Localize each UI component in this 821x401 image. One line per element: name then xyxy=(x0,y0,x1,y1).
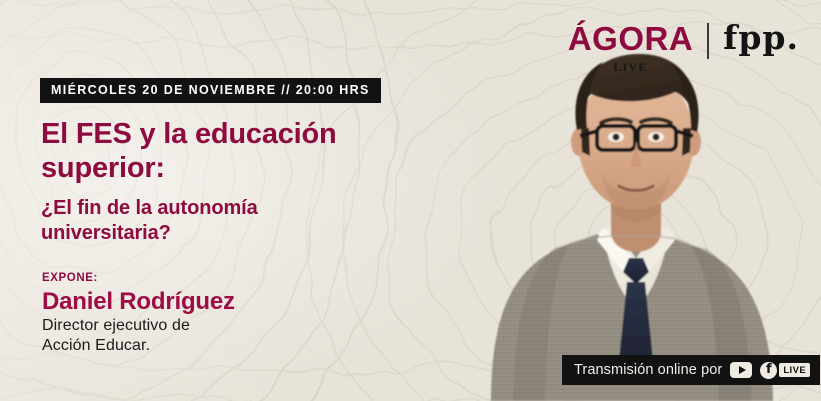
facebook-live-group[interactable]: f LIVE xyxy=(760,362,810,379)
transmission-bar: Transmisión online por f LIVE xyxy=(562,355,820,385)
fpp-wordmark: fpp. xyxy=(723,21,799,54)
event-subtitle-line-1: ¿El fin de la autonomía xyxy=(41,196,371,221)
agora-logo-block: ÁGORA LIVE xyxy=(568,22,693,73)
facebook-icon[interactable]: f xyxy=(760,362,777,379)
live-badge: LIVE xyxy=(779,363,810,378)
agora-live-label: LIVE xyxy=(613,61,647,73)
event-poster: ÁGORA LIVE fpp. MIÉRCOLES 20 DE NOVIEMBR… xyxy=(0,0,821,401)
play-triangle-icon xyxy=(739,366,746,374)
event-date-strip: MIÉRCOLES 20 DE NOVIEMBRE // 20:00 HRS xyxy=(40,78,381,103)
event-subtitle: ¿El fin de la autonomía universitaria? xyxy=(41,196,371,246)
speaker-label: EXPONE: xyxy=(42,273,98,285)
event-title-line-2: superior: xyxy=(41,152,401,186)
event-title: El FES y la educación superior: xyxy=(41,118,401,186)
logo-divider xyxy=(707,23,709,59)
speaker-role: Director ejecutivo de Acción Educar. xyxy=(42,316,190,357)
event-title-line-1: El FES y la educación xyxy=(41,118,401,152)
brand-logo: ÁGORA LIVE fpp. xyxy=(568,22,799,73)
youtube-icon[interactable] xyxy=(730,362,752,378)
speaker-role-line-2: Acción Educar. xyxy=(42,336,190,356)
agora-wordmark: ÁGORA xyxy=(568,22,693,55)
event-subtitle-line-2: universitaria? xyxy=(41,221,371,246)
transmission-label: Transmisión online por xyxy=(574,363,722,378)
speaker-name: Daniel Rodríguez xyxy=(42,289,235,315)
speaker-role-line-1: Director ejecutivo de xyxy=(42,316,190,336)
